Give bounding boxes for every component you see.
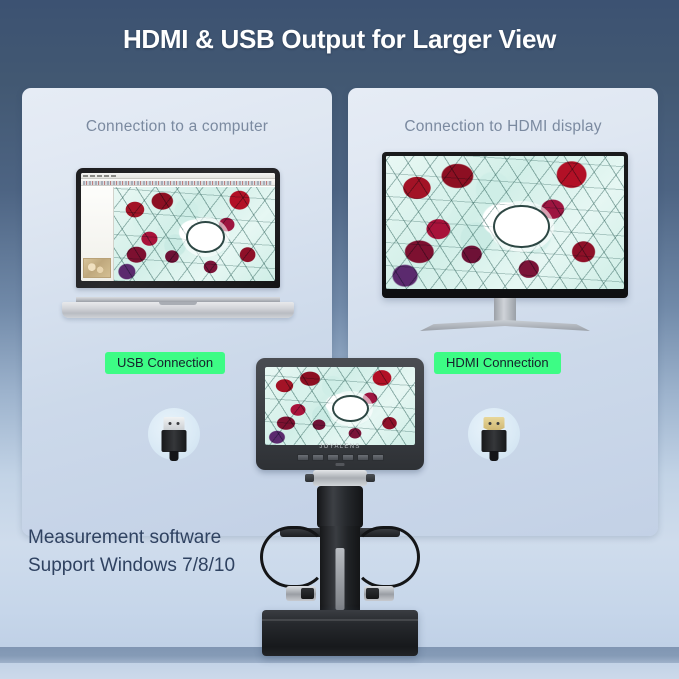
device-button[interactable]	[357, 454, 369, 461]
software-sidebar	[81, 187, 114, 281]
laptop-screen	[81, 173, 275, 281]
led-lamp-head-left	[286, 586, 316, 601]
footer-line-1: Measurement software	[28, 524, 235, 552]
device-indicator-led	[336, 463, 345, 466]
monitor-illustration	[382, 152, 628, 334]
usb-cable	[170, 451, 179, 461]
hdmi-plug-icon	[468, 408, 520, 460]
laptop-illustration	[62, 168, 294, 318]
usb-pin-right	[177, 422, 180, 425]
usb-plug-icon	[148, 408, 200, 460]
laptop-base	[62, 302, 294, 318]
device-button[interactable]	[372, 454, 384, 461]
hdmi-cable	[490, 451, 499, 461]
usb-pin-left	[169, 422, 172, 425]
led-lamp-head-right	[364, 586, 394, 601]
panel-title-right: Connection to HDMI display	[348, 118, 658, 136]
usb-connector-body	[162, 430, 187, 452]
sample-thumbnail	[83, 258, 111, 278]
microscope-display-housing: JOYALENS	[256, 358, 424, 470]
device-button[interactable]	[327, 454, 339, 461]
microscope-lens-barrel	[317, 486, 363, 528]
badge-usb-connection: USB Connection	[105, 352, 225, 374]
page-title: HDMI & USB Output for Larger View	[0, 24, 679, 55]
device-button[interactable]	[342, 454, 354, 461]
device-button[interactable]	[297, 454, 309, 461]
device-brand-label: JOYALENS	[256, 444, 424, 450]
monitor-stand-foot	[420, 320, 590, 331]
footer-text: Measurement software Support Windows 7/8…	[28, 524, 235, 579]
floor-band-lower	[0, 663, 679, 679]
device-button[interactable]	[312, 454, 324, 461]
product-feature-poster: HDMI & USB Output for Larger View Connec…	[0, 0, 679, 679]
software-toolbar	[81, 179, 275, 186]
footer-line-2: Support Windows 7/8/10	[28, 552, 235, 580]
usb-connector-tip	[164, 417, 185, 431]
monitor-screen	[386, 156, 624, 289]
device-button-row[interactable]	[256, 454, 424, 461]
microscope-base	[262, 610, 418, 656]
micrograph-image-laptop	[114, 187, 275, 281]
badge-hdmi-connection: HDMI Connection	[434, 352, 561, 374]
monitor-bezel	[382, 152, 628, 298]
hdmi-pin-right	[497, 422, 500, 425]
micrograph-image-device	[265, 367, 415, 445]
gooseneck-light-right	[352, 526, 420, 588]
software-body	[81, 187, 275, 281]
laptop-lid	[76, 168, 280, 288]
digital-microscope-illustration: JOYALENS	[256, 358, 424, 656]
gooseneck-light-left	[260, 526, 328, 588]
micrograph-image-monitor	[386, 156, 624, 289]
microscope-display-screen	[265, 367, 415, 445]
hdmi-connector-body	[482, 430, 507, 452]
hdmi-pin-left	[489, 422, 492, 425]
panel-title-left: Connection to a computer	[22, 118, 332, 136]
microscope-focus-collar	[313, 470, 367, 486]
